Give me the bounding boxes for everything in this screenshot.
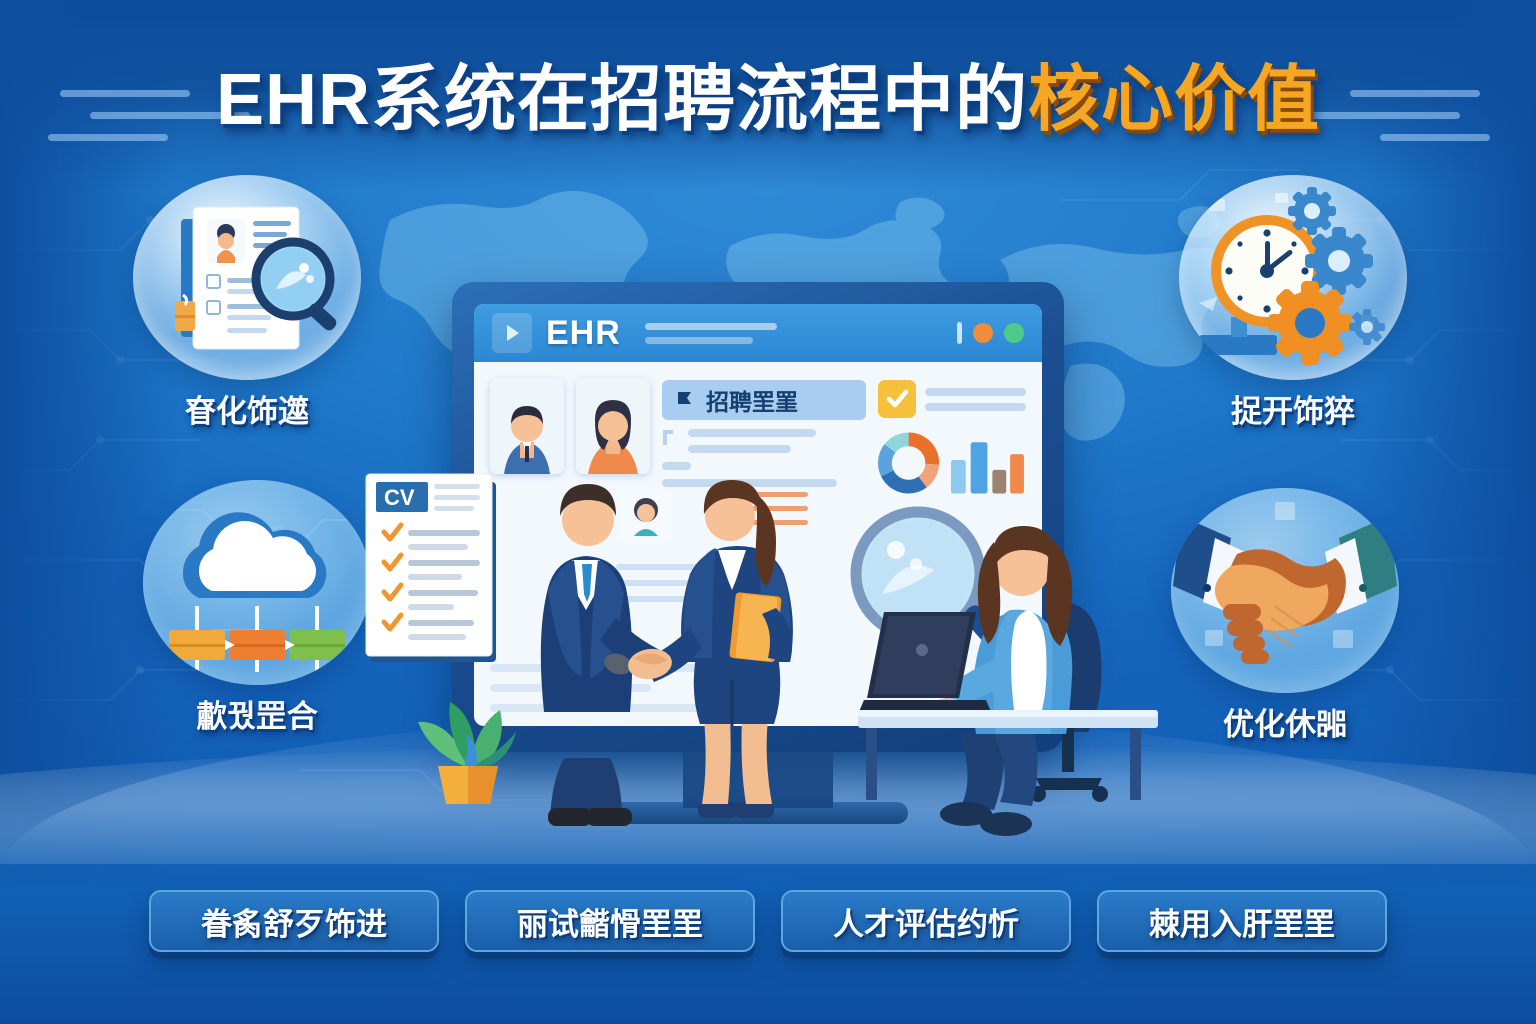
feature-disc — [143, 480, 371, 685]
candidate-avatar-male[interactable] — [490, 378, 564, 474]
feature-efficiency[interactable]: 捉开饰猝 — [1168, 175, 1418, 431]
menu-bar-icon[interactable] — [957, 322, 962, 344]
titlebar-placeholder-lines — [645, 323, 777, 344]
donut-chart — [878, 432, 939, 494]
feature-disc — [1179, 175, 1407, 380]
candidate-avatar-female[interactable] — [576, 378, 650, 474]
feature-label: 眘化饰遾 — [185, 386, 309, 431]
check-icon — [878, 380, 916, 418]
play-icon[interactable] — [492, 313, 532, 353]
window-dot-orange[interactable] — [973, 323, 993, 343]
resume-magnifier-icon — [133, 175, 361, 380]
title-main-text: EHR系统在招聘流程中的 — [216, 64, 1028, 136]
window-dot-green[interactable] — [1004, 323, 1024, 343]
approved-status-row — [878, 380, 1026, 418]
bottom-pill-row: 眷䏑舒歹饰进 丽试龤愲罜罜 人才评估约忻 棘用入肝罜罜 — [0, 890, 1536, 952]
cv-label-text: CV — [384, 485, 415, 510]
infographic-canvas: EHR系统在招聘流程中的核心价值 — [0, 0, 1536, 1024]
feature-cloud-integration[interactable]: 歗꿨罡合 — [132, 480, 382, 736]
feature-disc — [1171, 488, 1399, 693]
feature-label: 捉开饰猝 — [1231, 386, 1355, 431]
app-logo: EHR — [546, 314, 621, 353]
pill-item[interactable]: 人才评估约忻 — [781, 890, 1071, 952]
highlighted-record-label: 招聘罜罣 — [706, 383, 798, 417]
app-titlebar: EHR — [474, 304, 1042, 362]
feature-optimization[interactable]: 优化休嘂 — [1160, 488, 1410, 744]
handshake-people-illustration — [520, 468, 820, 853]
page-title: EHR系统在招聘流程中的核心价值 — [0, 52, 1536, 148]
clock-gears-icon — [1179, 175, 1407, 380]
pill-label: 眷䏑舒歹饰进 — [201, 899, 387, 944]
flag-icon — [674, 389, 696, 411]
pill-label: 棘用入肝罜罜 — [1149, 899, 1335, 944]
handshake-icon — [1171, 488, 1399, 693]
doc-icon — [662, 429, 678, 447]
feature-label: 歗꿨罡合 — [196, 691, 318, 736]
laptop-worker-scene — [858, 498, 1168, 843]
window-controls[interactable] — [957, 322, 1024, 344]
feature-disc — [133, 175, 361, 380]
cv-document: CV — [364, 468, 502, 668]
bar-chart — [949, 432, 1026, 494]
cloud-nodes-icon — [143, 480, 371, 685]
feature-resume-screening[interactable]: 眘化饰遾 — [122, 175, 372, 431]
feature-label: 优化休嘂 — [1223, 699, 1347, 744]
potted-plant — [398, 680, 538, 820]
highlighted-record-row[interactable]: 招聘罜罣 — [662, 380, 866, 420]
analytics-column — [878, 378, 1026, 494]
pill-item[interactable]: 棘用入肝罜罜 — [1097, 890, 1387, 952]
pill-item[interactable]: 眷䏑舒歹饰进 — [149, 890, 439, 952]
pill-item[interactable]: 丽试龤愲罜罜 — [465, 890, 755, 952]
pill-label: 丽试龤愲罜罜 — [517, 899, 703, 944]
title-accent-text: 核心价值 — [1028, 64, 1320, 136]
pill-label: 人才评估约忻 — [833, 899, 1019, 944]
